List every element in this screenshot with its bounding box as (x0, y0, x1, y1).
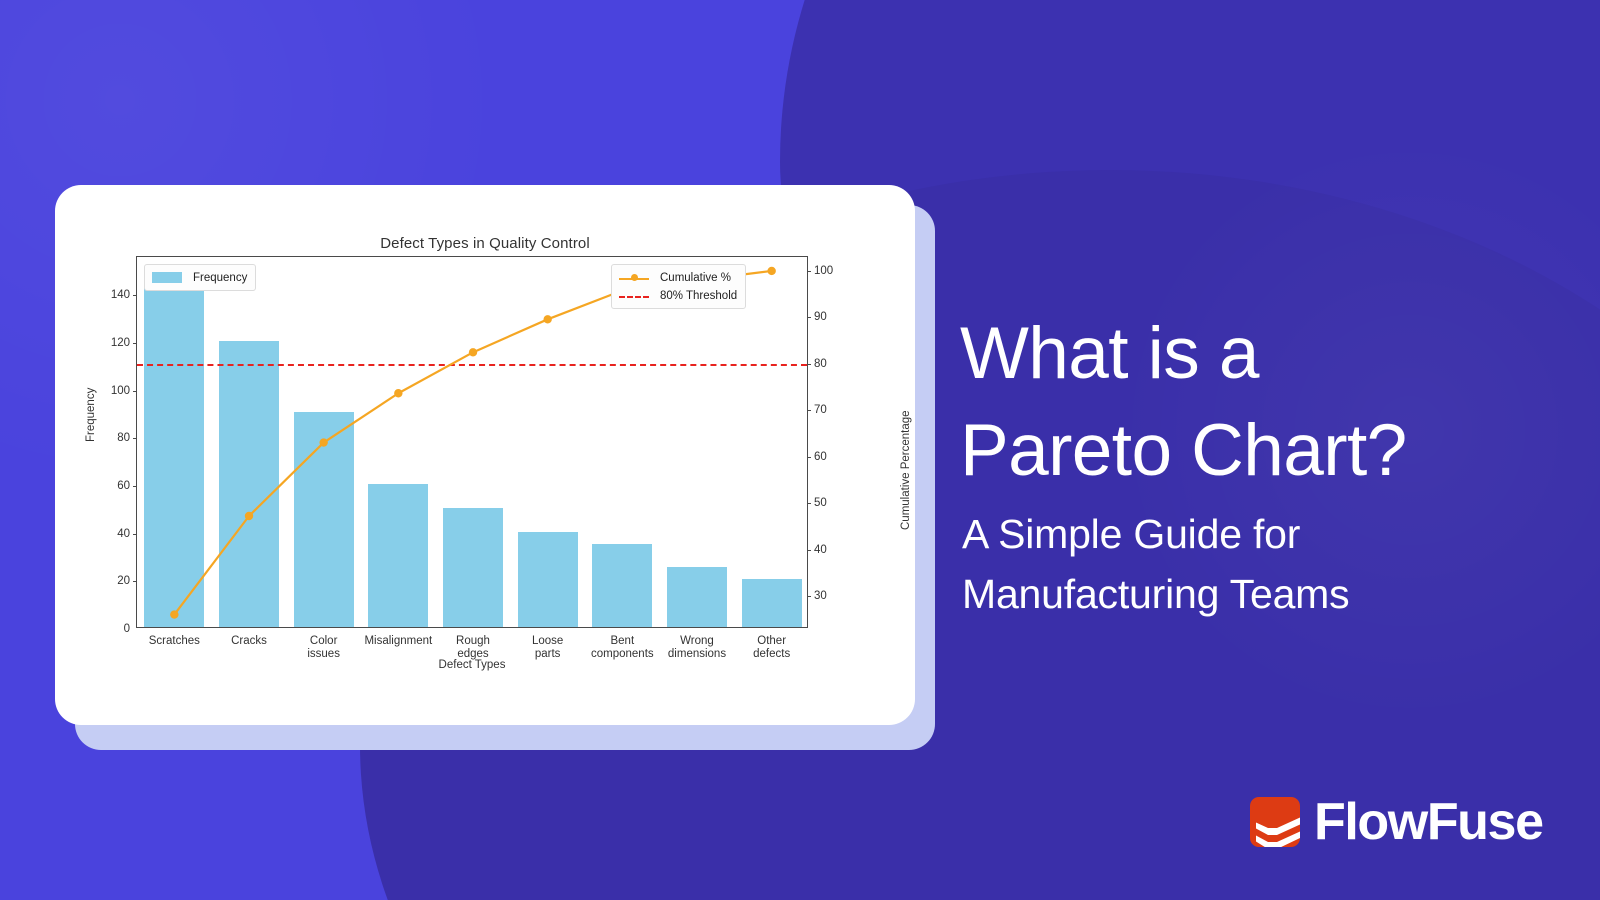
legend-label-threshold: 80% Threshold (660, 290, 737, 302)
y-tick-mark-left (133, 391, 137, 392)
y-tick-label-right: 50 (814, 497, 827, 509)
cumulative-point-6 (543, 315, 551, 323)
y-tick-mark-right (807, 457, 811, 458)
y-tick-mark-right (807, 317, 811, 318)
y-tick-mark-left (133, 486, 137, 487)
y-tick-mark-right (807, 550, 811, 551)
x-tick-label-6: Loose parts (532, 635, 563, 661)
dashed-line-swatch-icon (619, 290, 649, 301)
y-tick-mark-right (807, 596, 811, 597)
y-tick-label-right: 100 (814, 265, 833, 277)
headline-line-1: What is a (960, 305, 1580, 402)
pareto-chart-figure: Defect Types in Quality Control Frequenc… (55, 185, 915, 725)
legend-frequency: Frequency (144, 264, 256, 291)
y-tick-mark-right (807, 271, 811, 272)
x-tick-label-3: Color issues (307, 635, 340, 661)
legend-entry-frequency: Frequency (152, 270, 247, 285)
legend-label-frequency: Frequency (193, 272, 247, 284)
chart-title: Defect Types in Quality Control (55, 235, 915, 252)
y-tick-label-right: 60 (814, 451, 827, 463)
cumulative-point-5 (469, 348, 477, 356)
y-tick-label-left: 140 (111, 289, 130, 301)
y-tick-label-right: 40 (814, 544, 827, 556)
y-tick-mark-left (133, 343, 137, 344)
x-tick-label-2: Cracks (231, 635, 267, 648)
legend-label-cumulative: Cumulative % (660, 272, 731, 284)
y-tick-label-left: 100 (111, 385, 130, 397)
y-tick-label-right: 70 (814, 404, 827, 416)
y-tick-label-left: 120 (111, 337, 130, 349)
subhead-line-1: A Simple Guide for (962, 505, 1582, 565)
y-axis-label-left: Frequency (85, 388, 97, 442)
y-tick-label-right: 80 (814, 358, 827, 370)
poster-canvas: Defect Types in Quality Control Frequenc… (0, 0, 1600, 900)
y-tick-label-right: 30 (814, 590, 827, 602)
flowfuse-wordmark: FlowFuse (1314, 796, 1543, 848)
cumulative-point-2 (245, 512, 253, 520)
y-tick-mark-right (807, 364, 811, 365)
y-tick-mark-left (133, 534, 137, 535)
chart-card: Defect Types in Quality Control Frequenc… (55, 185, 915, 725)
y-tick-mark-left (133, 581, 137, 582)
legend-cumulative: Cumulative % 80% Threshold (611, 264, 746, 309)
legend-entry-cumulative: Cumulative % (619, 270, 737, 285)
y-tick-label-right: 90 (814, 311, 827, 323)
y-tick-label-left: 80 (117, 432, 130, 444)
cumulative-point-3 (319, 438, 327, 446)
cumulative-point-1 (170, 610, 178, 618)
y-tick-label-left: 0 (124, 623, 130, 635)
y-tick-mark-right (807, 410, 811, 411)
page-title: What is a Pareto Chart? (960, 305, 1580, 499)
cumulative-line (137, 257, 807, 627)
y-tick-mark-right (807, 503, 811, 504)
x-tick-label-4: Misalignment (364, 635, 432, 648)
cumulative-point-9 (767, 267, 775, 275)
bar-swatch-icon (152, 272, 182, 283)
y-tick-label-left: 60 (117, 480, 130, 492)
x-tick-label-1: Scratches (149, 635, 200, 648)
plot-area: 20406080100120140030405060708090100Scrat… (136, 256, 808, 628)
y-tick-mark-left (133, 295, 137, 296)
x-tick-label-7: Bent components (591, 635, 654, 661)
flowfuse-logo: FlowFuse (1250, 796, 1543, 848)
y-tick-label-left: 40 (117, 528, 130, 540)
y-axis-label-right: Cumulative Percentage (900, 410, 912, 530)
y-tick-mark-left (133, 438, 137, 439)
headline-line-2: Pareto Chart? (960, 402, 1580, 499)
y-tick-label-left: 20 (117, 575, 130, 587)
x-tick-label-9: Other defects (753, 635, 790, 661)
legend-entry-threshold: 80% Threshold (619, 288, 737, 303)
page-subtitle: A Simple Guide for Manufacturing Teams (962, 505, 1582, 625)
cumulative-point-4 (394, 389, 402, 397)
flowfuse-arrow-icon (1250, 797, 1300, 847)
plot-clip (137, 257, 807, 627)
subhead-line-2: Manufacturing Teams (962, 565, 1582, 625)
x-tick-label-5: Rough edges (456, 635, 490, 661)
x-tick-label-8: Wrong dimensions (668, 635, 726, 661)
line-marker-swatch-icon (619, 272, 649, 283)
